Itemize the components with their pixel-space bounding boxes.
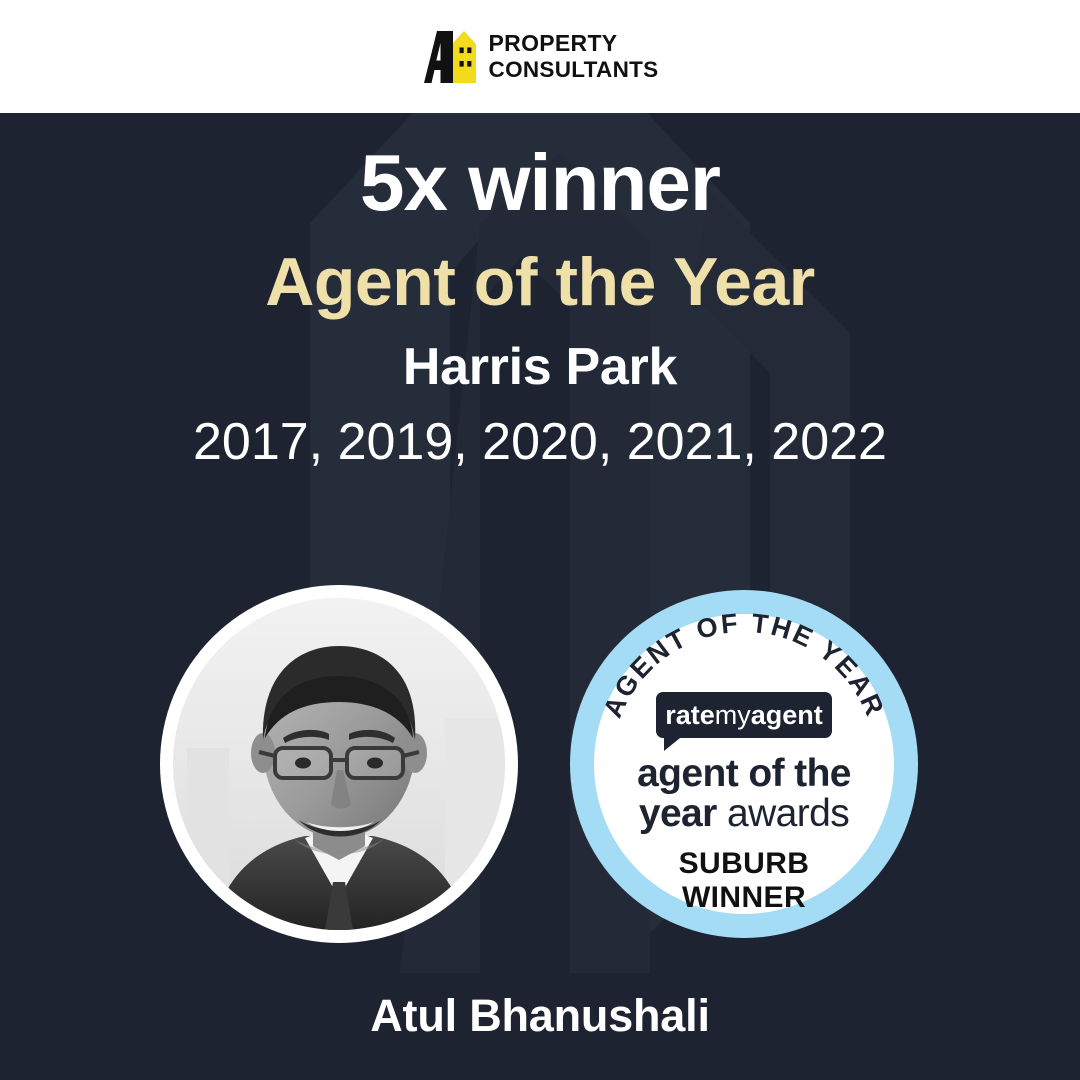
media-row: AGENT OF THE YEAR ratemyagent agent of t…: [0, 585, 1080, 943]
badge-title-line2: year awards: [639, 792, 849, 835]
avatar: [160, 585, 518, 943]
award-title-heading: Agent of the Year: [0, 247, 1080, 318]
brand-wordmark: PROPERTY CONSULTANTS: [489, 32, 659, 82]
poster-body: 5x winner Agent of the Year Harris Park …: [0, 113, 1080, 1080]
headshot-illustration: [173, 598, 505, 930]
badge-category-line1: SUBURB: [679, 847, 810, 880]
badge-title-year: year: [639, 792, 717, 835]
avatar-image: [173, 598, 505, 930]
badge-category-line2: WINNER: [682, 881, 806, 914]
suburb-heading: Harris Park: [0, 340, 1080, 395]
logo-my: my: [715, 700, 751, 730]
brand-line-property: PROPERTY: [489, 32, 659, 55]
logo-rate: rate: [665, 700, 715, 730]
winner-count-heading: 5x winner: [0, 141, 1080, 225]
badge-title-line1: agent of the: [637, 752, 851, 795]
poster-content: 5x winner Agent of the Year Harris Park …: [0, 113, 1080, 1080]
poster-canvas: PROPERTY CONSULTANTS 5x winner Agent of …: [0, 0, 1080, 1080]
ab-house-monogram-icon: [422, 30, 480, 84]
headline-block: 5x winner Agent of the Year Harris Park …: [0, 141, 1080, 470]
svg-text:ratemyagent: ratemyagent: [665, 700, 823, 730]
header-bar: PROPERTY CONSULTANTS: [0, 0, 1080, 113]
brand-logo[interactable]: PROPERTY CONSULTANTS: [422, 30, 659, 84]
years-list: 2017, 2019, 2020, 2021, 2022: [0, 415, 1080, 470]
ratemyagent-award-badge-icon: AGENT OF THE YEAR ratemyagent agent of t…: [568, 588, 920, 940]
badge-title-awards: awards: [727, 792, 849, 835]
brand-line-consultants: CONSULTANTS: [489, 59, 659, 82]
agent-name: Atul Bhanushali: [0, 990, 1080, 1042]
logo-agent: agent: [751, 700, 823, 730]
award-badge: AGENT OF THE YEAR ratemyagent agent of t…: [568, 588, 920, 940]
